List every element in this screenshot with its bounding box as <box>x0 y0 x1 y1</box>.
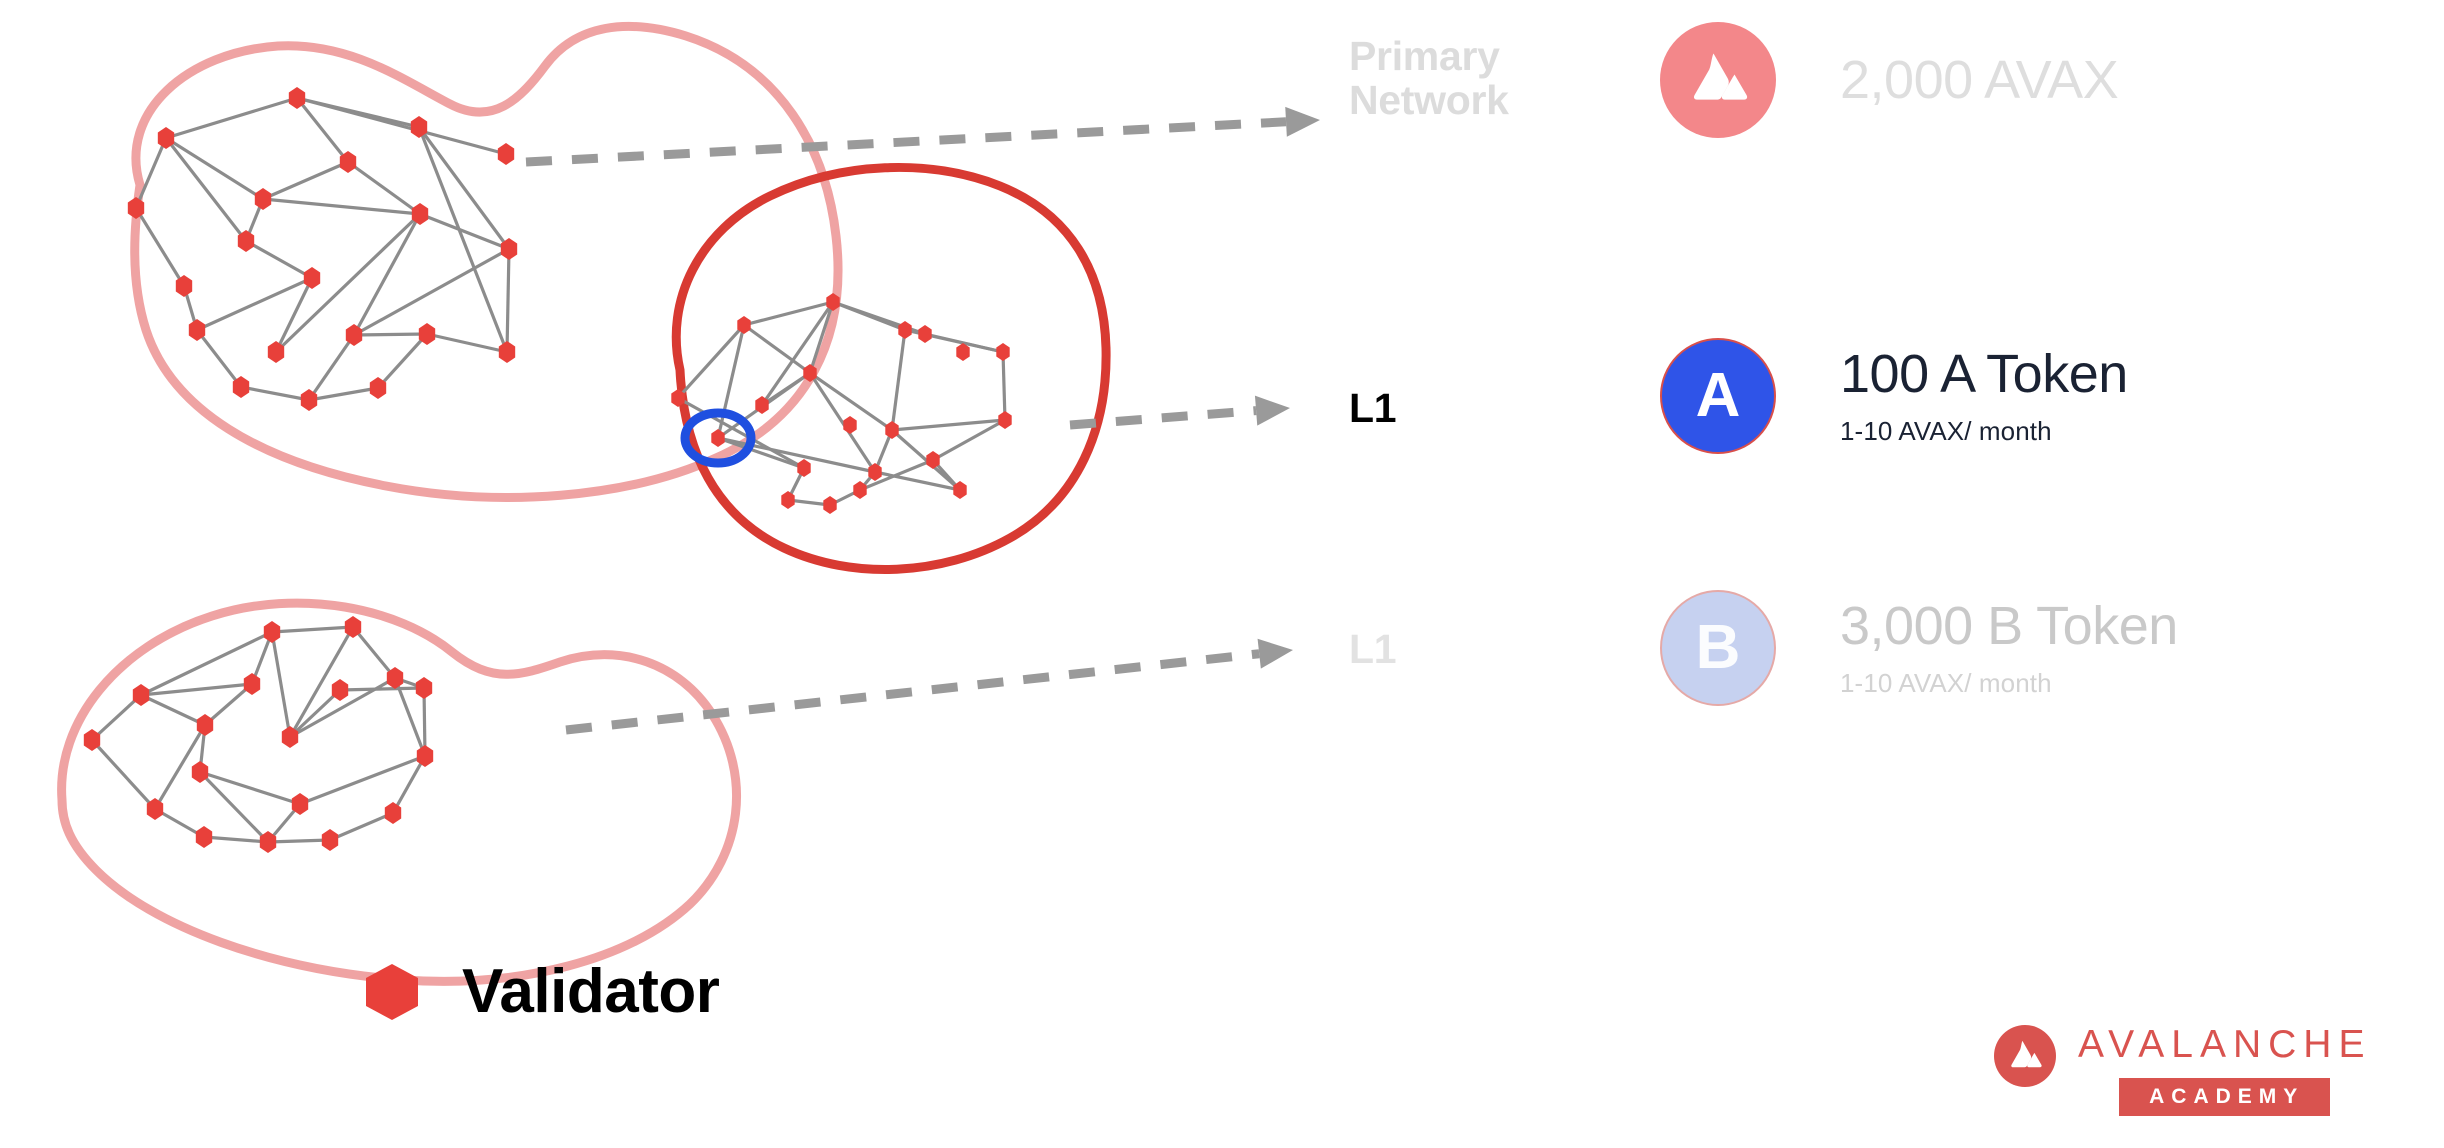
network-edge <box>1003 352 1005 420</box>
network-edge <box>309 388 378 400</box>
brand-academy-badge: ACADEMY <box>2119 1078 2330 1116</box>
stake-fee-a: 1-10 AVAX/ month <box>1840 416 2128 447</box>
network-edge <box>268 840 330 842</box>
network-edge <box>276 278 312 352</box>
token-b-letter: B <box>1696 617 1741 679</box>
network-edge <box>166 138 263 199</box>
network-label-l1-faded: L1 <box>1349 627 1396 671</box>
validator-hexagon-icon <box>360 960 424 1024</box>
network-edge <box>272 632 290 737</box>
token-a-avatar: A <box>1660 338 1776 454</box>
network-edge <box>197 330 241 387</box>
validator-node <box>264 621 280 643</box>
token-a-letter: A <box>1696 365 1741 427</box>
validator-node <box>918 325 931 343</box>
arrow-l1-active-head <box>1255 396 1290 426</box>
validator-node <box>196 826 212 848</box>
network-edges-l1-faded <box>92 627 425 842</box>
legend: Validator <box>360 956 719 1027</box>
network-edge <box>263 162 348 199</box>
network-edge <box>141 695 205 725</box>
validator-node <box>322 829 338 851</box>
network-edge <box>378 334 427 388</box>
validator-node <box>416 677 432 699</box>
arrow-l1-faded-line <box>566 654 1259 730</box>
network-edge <box>330 813 393 840</box>
stake-amount-primary: 2,000 AVAX <box>1840 51 2118 109</box>
network-outline-l1-active <box>676 167 1106 569</box>
avalanche-academy-logo: AVALANCHE ACADEMY <box>1994 1025 2371 1116</box>
stake-row-text-b: 3,000 B Token 1-10 AVAX/ month <box>1840 597 2178 698</box>
validator-node <box>996 343 1009 361</box>
network-edges-primary <box>136 98 509 400</box>
validator-node <box>898 321 911 339</box>
network-edge <box>92 695 141 740</box>
network-label-l1-active: L1 <box>1349 386 1396 430</box>
avalanche-glyph-icon <box>1683 49 1753 111</box>
network-edge <box>272 627 353 632</box>
validator-node <box>711 429 724 447</box>
network-edges-l1-active <box>678 302 1005 505</box>
network-edge <box>427 334 507 352</box>
network-edge <box>393 756 425 813</box>
validator-node <box>823 496 836 514</box>
stake-fee-b: 1-10 AVAX/ month <box>1840 668 2178 699</box>
arrow-l1-faded-head <box>1258 639 1293 669</box>
diagram-canvas: Primary Network L1 L1 2,000 AVAX A 100 A… <box>0 0 2444 1148</box>
network-edge <box>892 330 905 430</box>
network-label-primary-network: Primary Network <box>1349 34 1509 123</box>
network-edge <box>348 162 420 214</box>
connector-arrows <box>526 107 1320 730</box>
network-nodes-primary <box>128 87 517 411</box>
brand-academy-label: ACADEMY <box>2149 1086 2304 1107</box>
stake-row-l1-a: A 100 A Token 1-10 AVAX/ month <box>1660 338 2128 454</box>
arrow-primary-line <box>526 122 1286 162</box>
network-edge <box>241 387 309 400</box>
network-edge <box>419 127 507 352</box>
brand-wordmark: AVALANCHE ACADEMY <box>2078 1025 2371 1116</box>
validator-node <box>499 341 515 363</box>
stake-amount-a: 100 A Token <box>1840 345 2128 403</box>
network-l1-faded <box>62 603 737 981</box>
network-edge <box>354 334 427 335</box>
network-edge <box>300 756 425 804</box>
validator-node <box>255 188 271 210</box>
arrow-primary-head <box>1285 107 1320 137</box>
network-edge <box>92 740 155 809</box>
validator-node <box>332 679 348 701</box>
validator-node <box>133 684 149 706</box>
network-edge <box>353 627 395 678</box>
network-edge <box>309 335 354 400</box>
brand-name: AVALANCHE <box>2078 1025 2371 1064</box>
network-l1-active <box>671 167 1106 569</box>
validator-node <box>498 143 514 165</box>
avalanche-glyph-icon <box>2005 1038 2045 1074</box>
network-nodes-l1-active <box>671 293 1011 514</box>
network-outline-l1-faded <box>62 603 737 981</box>
stake-row-primary-network: 2,000 AVAX <box>1660 22 2118 138</box>
network-edge <box>810 373 875 472</box>
network-edge <box>204 837 268 842</box>
stake-row-l1-b: B 3,000 B Token 1-10 AVAX/ month <box>1660 590 2178 706</box>
token-b-avatar: B <box>1660 590 1776 706</box>
validator-node <box>998 411 1011 429</box>
validator-node <box>885 421 898 439</box>
stake-amount-b: 3,000 B Token <box>1840 597 2178 655</box>
network-edge <box>166 98 297 138</box>
network-edge <box>197 278 312 330</box>
avalanche-logo-icon <box>1660 22 1776 138</box>
network-edge <box>892 430 960 490</box>
validator-node <box>843 416 856 434</box>
validator-node <box>244 673 260 695</box>
network-edge <box>297 98 506 154</box>
legend-label: Validator <box>462 956 719 1027</box>
network-edge <box>263 199 420 214</box>
avalanche-logo-icon <box>1994 1025 2056 1087</box>
stake-row-text-primary: 2,000 AVAX <box>1840 51 2118 109</box>
network-edge <box>340 688 424 690</box>
network-edge <box>246 241 312 278</box>
validator-node <box>304 267 320 289</box>
network-edge <box>507 249 509 352</box>
network-edge <box>166 138 246 241</box>
stake-row-text-a: 100 A Token 1-10 AVAX/ month <box>1840 345 2128 446</box>
network-edge <box>136 208 184 286</box>
